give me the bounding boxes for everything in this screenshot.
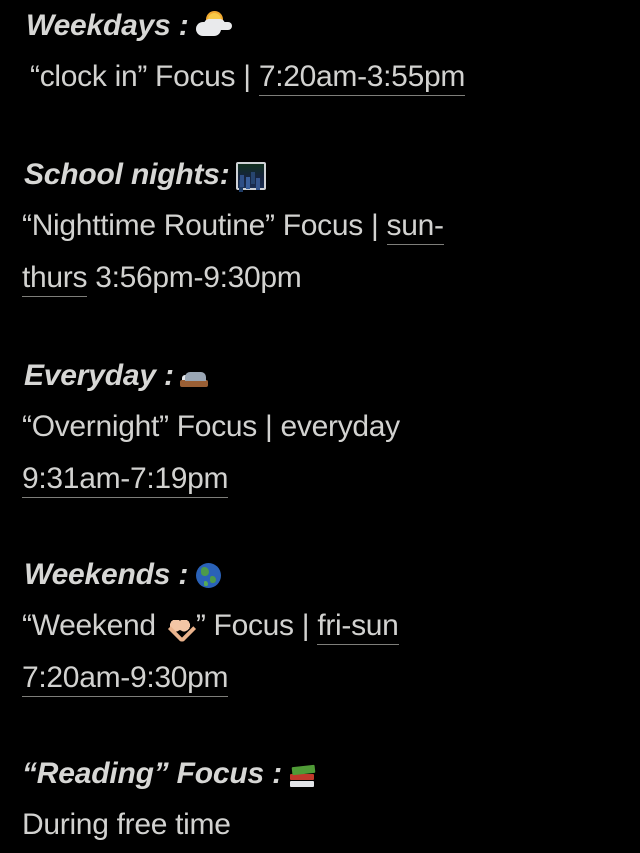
section-body-line: 7:20am-9:30pm xyxy=(10,652,630,704)
underlined-day-range-cont: thurs xyxy=(22,261,87,297)
bed-icon xyxy=(180,363,210,391)
section-heading-text: Everyday : xyxy=(24,359,174,392)
section-body-line: “Overnight” Focus | everyday xyxy=(10,401,630,453)
body-text-cont: ” Focus | xyxy=(196,609,317,642)
night-with-stars-icon xyxy=(236,162,266,190)
section-body-line: thurs 3:56pm-9:30pm xyxy=(10,252,630,304)
section-heading-reading: “Reading” Focus : xyxy=(10,754,630,794)
heart-hands-icon xyxy=(166,616,194,640)
section-heading-everyday: Everyday : xyxy=(10,356,630,396)
section-body-line: “clock in” Focus | 7:20am-3:55pm xyxy=(10,51,630,103)
underlined-day-range: fri-sun xyxy=(317,609,398,645)
books-icon xyxy=(288,761,318,789)
body-text: “Overnight” Focus | everyday xyxy=(22,410,400,443)
section-heading-weekdays: Weekdays : xyxy=(10,6,630,46)
underlined-time-range: 7:20am-3:55pm xyxy=(259,60,465,96)
sun-behind-cloud-icon xyxy=(195,13,225,41)
body-text: “Nighttime Routine” Focus | xyxy=(22,209,387,242)
schedule-section-reading: “Reading” Focus : During free time xyxy=(10,704,630,851)
body-text: 3:56pm-9:30pm xyxy=(87,261,301,294)
section-heading-text: School nights: xyxy=(24,158,230,191)
section-heading-weekends: Weekends : xyxy=(10,555,630,595)
body-text: During free time xyxy=(22,808,231,841)
schedule-section-everyday: Everyday : “Overnight” Focus | everyday … xyxy=(10,304,630,505)
focus-schedule-note: Weekdays : “clock in” Focus | 7:20am-3:5… xyxy=(0,0,640,853)
schedule-section-weekends: Weekends : “Weekend ” Focus | fri-sun 7:… xyxy=(10,505,630,704)
underlined-time-range: 9:31am-7:19pm xyxy=(22,462,228,498)
section-heading-text: Weekdays : xyxy=(26,9,189,42)
section-body-line: “Nighttime Routine” Focus | sun- xyxy=(10,200,630,252)
underlined-day-range: sun- xyxy=(387,209,444,245)
body-text: “clock in” Focus | xyxy=(30,60,259,93)
body-text: “Weekend xyxy=(22,609,164,642)
schedule-section-weekdays: Weekdays : “clock in” Focus | 7:20am-3:5… xyxy=(10,4,630,103)
section-body-line: 9:31am-7:19pm xyxy=(10,453,630,505)
section-heading-text: “Reading” Focus : xyxy=(22,757,282,790)
section-body-line: During free time xyxy=(10,799,630,851)
section-heading-school-nights: School nights: xyxy=(10,155,630,195)
section-heading-text: Weekends : xyxy=(24,558,188,591)
globe-americas-icon xyxy=(194,562,224,590)
underlined-time-range: 7:20am-9:30pm xyxy=(22,661,228,697)
section-body-line: “Weekend ” Focus | fri-sun xyxy=(10,600,630,652)
schedule-section-school-nights: School nights: “Nighttime Routine” Focus… xyxy=(10,103,630,304)
